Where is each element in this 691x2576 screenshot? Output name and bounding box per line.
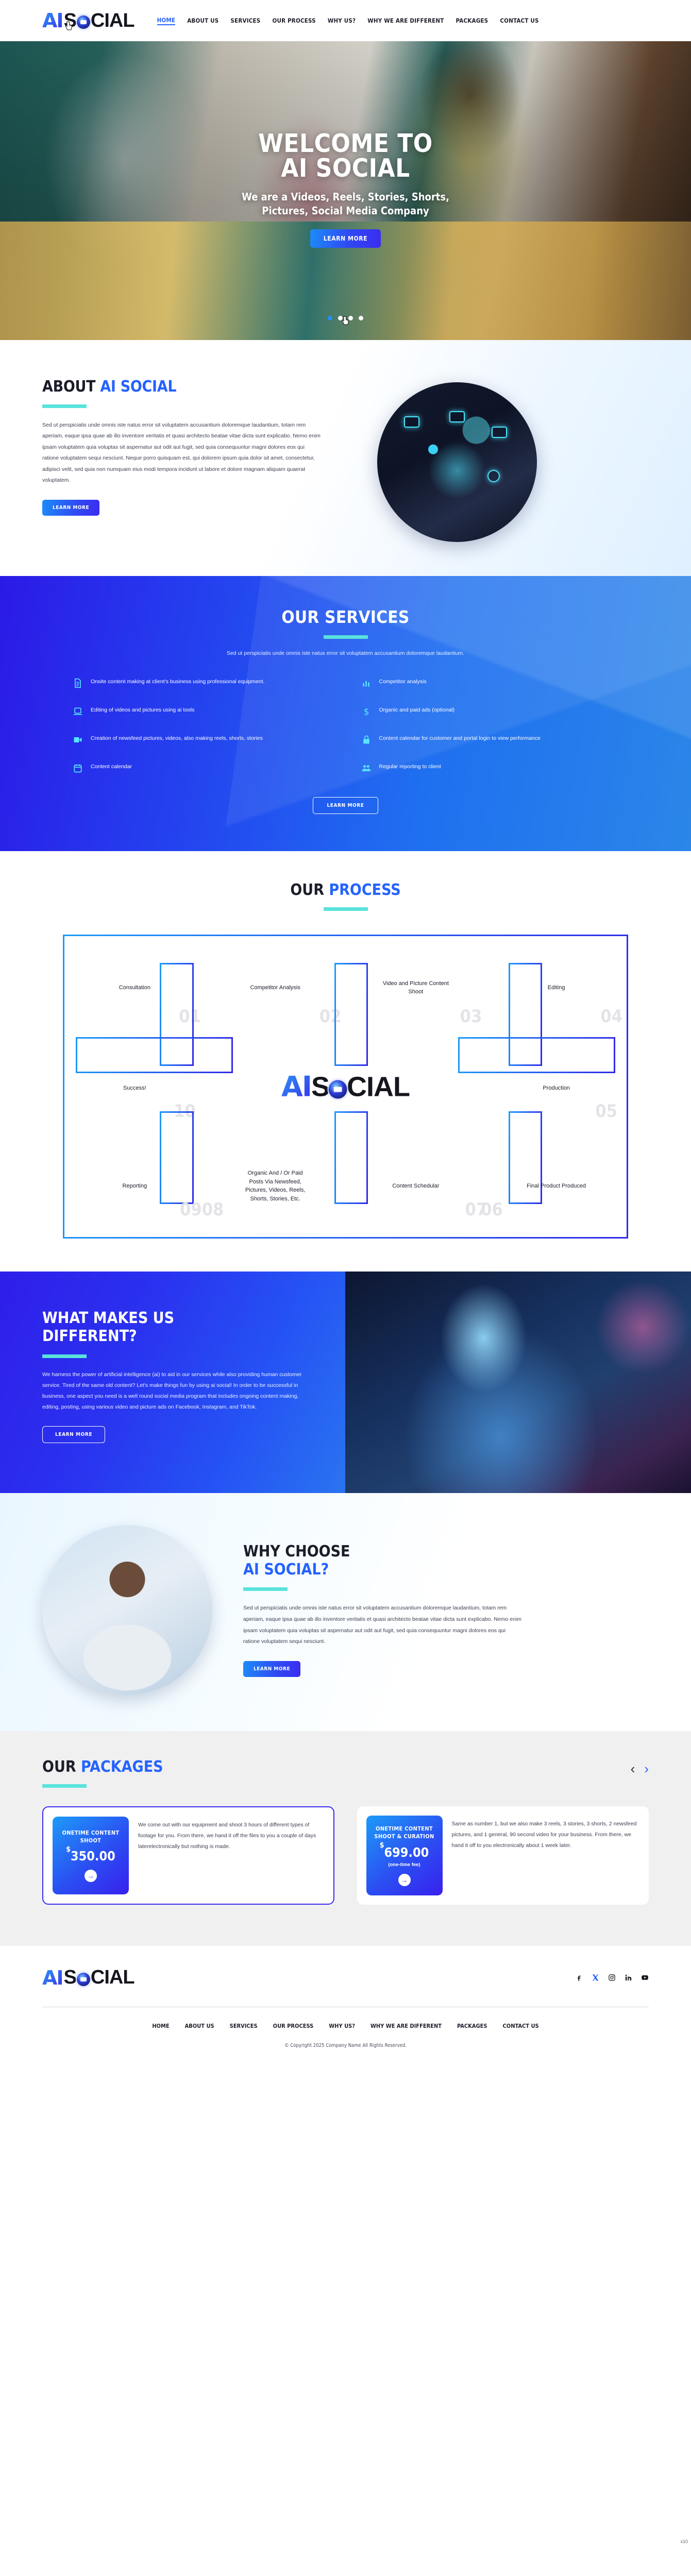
package-badge: ONETIME CONTENT SHOOT & CURATION $699.00… [366,1816,443,1895]
different-heading-line1: WHAT MAKES US [42,1309,174,1327]
logo-ai-text: AI [42,9,63,32]
hero-title: WELCOME TO AI SOCIAL [0,131,691,181]
about-learn-more-button[interactable]: LEARN MORE [42,500,99,516]
about-text-column: ABOUT AI SOCIAL Sed ut perspiciatis unde… [42,378,357,542]
footer-nav: HOME ABOUT US SERVICES OUR PROCESS WHY U… [42,2023,649,2029]
carousel-next-icon[interactable]: › [644,1762,649,1775]
package-currency: $ [380,1841,384,1850]
process-heading-blue: PROCESS [329,881,400,899]
footer-nav-home[interactable]: HOME [152,2023,169,2029]
footer-nav-about-us[interactable]: ABOUT US [185,2023,214,2029]
laptop-icon [72,705,83,718]
nav-item-why-us[interactable]: WHY US? [328,17,356,24]
hero-title-line2: AI SOCIAL [281,154,410,183]
packages-section: OUR PACKAGES ‹ › ONETIME CONTENT SHOOT $… [0,1731,691,1946]
about-brain-glow-icon [426,439,488,501]
process-step-number: 05 [595,1101,617,1122]
process-row-bottom: Reporting 09 Organic And / Or Paid Posts… [64,1134,627,1238]
why-choose-text-column: WHY CHOOSE AI SOCIAL? Sed ut perspiciati… [233,1543,521,1676]
package-price: $350.00 [66,1849,115,1863]
service-text: Creation of newsfeed pictures, videos, a… [91,734,263,743]
service-text: Onsite content making at client's busine… [91,677,265,687]
different-heading: WHAT MAKES US DIFFERENT? [42,1310,314,1345]
process-step-number: 04 [600,1006,622,1027]
hero-learn-more-button[interactable]: LEARN MORE [310,229,381,248]
logo-s-text: S [311,1071,329,1103]
why-choose-heading-blue: AI SOCIAL? [243,1561,329,1579]
package-description: We come out with our equipment and shoot… [138,1817,324,1894]
process-step-label: Competitor Analysis [250,984,300,992]
process-step: Editing 04 [486,936,627,1039]
process-center-logo: AI S CIAL [281,1071,410,1103]
zoom-level-indicator: x10 [680,2539,688,2544]
footer-divider [42,2007,649,2007]
different-text-column: WHAT MAKES US DIFFERENT? We harness the … [0,1272,345,1493]
logo[interactable]: AI S CIAL [42,9,134,32]
service-item: Competitor analysis [361,677,619,689]
packages-grid: ONETIME CONTENT SHOOT $350.00 → We come … [42,1806,649,1905]
process-step: Final Product Produced 06 [486,1134,627,1238]
service-item: Editing of videos and pictures using ai … [72,705,331,718]
process-heading: OUR PROCESS [42,881,649,899]
why-choose-learn-more-button[interactable]: LEARN MORE [243,1661,300,1677]
packages-divider [42,1784,87,1788]
about-heading-dark: ABOUT [42,378,100,396]
footer-logo[interactable]: AI S CIAL [42,1967,134,1989]
site-header: AI S CIAL HOME ABOUT US SERVICES OUR PRO… [0,0,691,41]
package-badge: ONETIME CONTENT SHOOT $350.00 → [53,1817,129,1894]
logo-ai-text: AI [42,1967,63,1989]
service-text: Editing of videos and pictures using ai … [91,705,194,715]
packages-header: OUR PACKAGES ‹ › [42,1758,649,1788]
footer-copyright: © Copyright 2025 Company Name All Rights… [42,2043,649,2048]
package-badge-title: ONETIME CONTENT SHOOT & CURATION [372,1825,437,1841]
about-body: Sed ut perspiciatis unde omnis iste natu… [42,420,321,486]
package-price: $699.00 [380,1845,429,1860]
instagram-icon[interactable] [608,1974,616,1981]
different-divider [42,1354,87,1358]
packages-carousel-controls: ‹ › [631,1758,649,1775]
service-item: Creation of newsfeed pictures, videos, a… [72,734,331,746]
process-step-label: Reporting [123,1182,147,1191]
hero-dot-2[interactable] [338,316,343,320]
different-section: WHAT MAKES US DIFFERENT? We harness the … [0,1272,691,1493]
about-illustration [377,382,537,542]
youtube-icon[interactable] [641,1974,649,1981]
svg-text:$: $ [363,707,369,717]
logo-orb-icon [329,1080,347,1098]
lock-icon [361,734,372,746]
why-choose-section: WHY CHOOSE AI SOCIAL? Sed ut perspiciati… [0,1493,691,1731]
service-item: $ Organic and paid ads (optional) [361,705,619,718]
nav-item-our-process[interactable]: OUR PROCESS [272,17,315,24]
services-left-column: Onsite content making at client's busine… [72,677,331,774]
process-step: Reporting 09 [64,1134,205,1238]
site-footer: AI S CIAL HOME ABOUT US SERVICES OUR PRO… [0,1946,691,2062]
people-icon [361,762,372,774]
nav-item-home[interactable]: HOME [157,16,176,25]
services-learn-more-button[interactable]: LEARN MORE [313,797,378,814]
footer-social-links [575,1974,649,1981]
logo-ai-text: AI [281,1071,311,1103]
process-heading-dark: OUR [290,881,329,899]
hero-dot-4[interactable] [359,316,363,320]
main-nav: HOME ABOUT US SERVICES OUR PROCESS WHY U… [157,16,539,25]
footer-nav-our-process[interactable]: OUR PROCESS [273,2023,314,2029]
footer-nav-contact-us[interactable]: CONTACT US [503,2023,539,2029]
why-choose-photo [42,1525,212,1695]
process-divider [324,907,368,911]
x-twitter-icon[interactable] [592,1974,599,1981]
logo-cial-text: CIAL [91,10,134,32]
process-step: Competitor Analysis 02 [205,936,346,1039]
about-heading: ABOUT AI SOCIAL [42,378,357,396]
document-icon [72,677,83,689]
process-step-label: Content Schedular [392,1182,439,1191]
logo-s-text: S [64,1967,76,1989]
package-arrow-icon[interactable]: → [398,1874,411,1886]
about-card-chip-icon [449,411,465,422]
footer-nav-services[interactable]: SERVICES [230,2023,258,2029]
footer-top: AI S CIAL [42,1967,649,1989]
packages-heading: OUR PACKAGES [42,1758,163,1776]
process-step-number: 08 [202,1199,224,1220]
hero-content: WELCOME TO AI SOCIAL We are a Videos, Re… [0,41,691,248]
logo-s-text: S [64,10,76,32]
about-stats-chip-icon [492,427,507,438]
process-step: Production 05 [486,1039,627,1137]
package-price-value: 699.00 [384,1845,429,1860]
footer-nav-why-we-are-different[interactable]: WHY WE ARE DIFFERENT [370,2023,442,2029]
process-step: Content Schedular 07 [346,1134,486,1238]
different-learn-more-button[interactable]: LEARN MORE [42,1426,105,1443]
package-description: Same as number 1, but we also make 3 ree… [452,1816,640,1895]
hero-slider: WELCOME TO AI SOCIAL We are a Videos, Re… [0,41,691,340]
why-choose-body: Sed ut perspiciatis unde omnis iste natu… [243,1603,521,1647]
hero-subtitle-line2: Pictures, Social Media Company [262,205,429,217]
package-arrow-icon[interactable]: → [85,1870,97,1882]
footer-nav-why-us[interactable]: WHY US? [329,2023,355,2029]
service-item: Onsite content making at client's busine… [72,677,331,689]
packages-heading-blue: PACKAGES [81,1758,163,1776]
services-lead: Sed ut perspiciatis unde omnis iste natu… [114,650,578,656]
package-badge-title: ONETIME CONTENT SHOOT [58,1829,124,1845]
nav-item-contact-us[interactable]: CONTACT US [500,17,538,24]
services-grid: Onsite content making at client's busine… [0,677,691,774]
calendar-icon [72,762,83,774]
package-fee-note: (one-time fee) [388,1862,420,1868]
process-step-label: Editing [548,984,565,992]
service-text: Regular reporting to client [379,762,441,772]
process-diagram: Consultation 01 Competitor Analysis 02 V… [63,935,628,1239]
hero-dot-1[interactable] [328,316,332,320]
process-step-number: 06 [481,1199,503,1220]
process-step-label: Success! [123,1084,146,1093]
about-search-chip-icon [487,470,500,482]
service-item: Content calendar for customer and portal… [361,734,619,746]
service-text: Organic and paid ads (optional) [379,705,455,715]
package-card[interactable]: ONETIME CONTENT SHOOT & CURATION $699.00… [357,1806,649,1905]
nav-item-services[interactable]: SERVICES [230,17,260,24]
process-step-label: Consultation [119,984,150,992]
different-robot-image [345,1272,691,1493]
hero-subtitle-line1: We are a Videos, Reels, Stories, Shorts, [242,191,449,203]
logo-orb-icon [77,1973,90,1986]
service-item: Regular reporting to client [361,762,619,774]
service-text: Content calendar [91,762,132,772]
process-step-label: Organic And / Or Paid Posts Via Newsfeed… [242,1169,309,1203]
hero-subtitle: We are a Videos, Reels, Stories, Shorts,… [0,190,691,218]
different-body: We harness the power of artificial intel… [42,1369,310,1413]
logo-cial-text: CIAL [347,1071,410,1103]
why-choose-divider [243,1587,288,1591]
logo-cial-text: CIAL [91,1967,134,1989]
process-step-label: Video and Picture Content Shoot [382,979,449,996]
facebook-icon[interactable] [575,1974,583,1981]
services-divider [324,635,368,639]
about-section: ABOUT AI SOCIAL Sed ut perspiciatis unde… [0,340,691,576]
services-heading: OUR SERVICES [0,607,691,627]
carousel-prev-icon[interactable]: ‹ [631,1762,635,1775]
service-text: Content calendar for customer and portal… [379,734,541,743]
linkedin-icon[interactable] [625,1974,632,1981]
process-section: OUR PROCESS Consultation 01 Competitor A… [0,851,691,1272]
services-right-column: Competitor analysis $ Organic and paid a… [361,677,619,774]
hero-dot-3[interactable] [348,316,353,320]
dollar-icon: $ [361,705,372,718]
different-heading-line2: DIFFERENT? [42,1327,137,1345]
why-choose-heading-dark: WHY CHOOSE [243,1543,350,1561]
package-price-value: 350.00 [71,1849,115,1863]
process-step-number: 03 [460,1006,482,1027]
nav-item-about-us[interactable]: ABOUT US [187,17,218,24]
process-step-number: 09 [180,1199,202,1220]
about-heading-blue: AI SOCIAL [100,378,176,396]
nav-item-why-we-are-different[interactable]: WHY WE ARE DIFFERENT [367,17,444,24]
video-camera-icon [72,734,83,746]
process-step: Organic And / Or Paid Posts Via Newsfeed… [205,1134,346,1238]
service-item: Content calendar [72,762,331,774]
footer-nav-packages[interactable]: PACKAGES [457,2023,487,2029]
bar-chart-icon [361,677,372,689]
package-currency: $ [66,1845,71,1854]
process-step-label: Final Product Produced [527,1182,586,1191]
process-step-label: Production [543,1084,570,1093]
logo-orb-icon [77,15,90,29]
why-choose-heading: WHY CHOOSE AI SOCIAL? [243,1543,521,1579]
packages-heading-dark: OUR [42,1758,81,1776]
nav-item-packages[interactable]: PACKAGES [456,17,488,24]
package-card[interactable]: ONETIME CONTENT SHOOT $350.00 → We come … [42,1806,334,1905]
service-text: Competitor analysis [379,677,427,687]
about-divider [42,404,87,408]
hero-slider-dots [0,316,691,320]
services-section: OUR SERVICES Sed ut perspiciatis unde om… [0,576,691,851]
about-video-chip-icon [404,416,419,428]
